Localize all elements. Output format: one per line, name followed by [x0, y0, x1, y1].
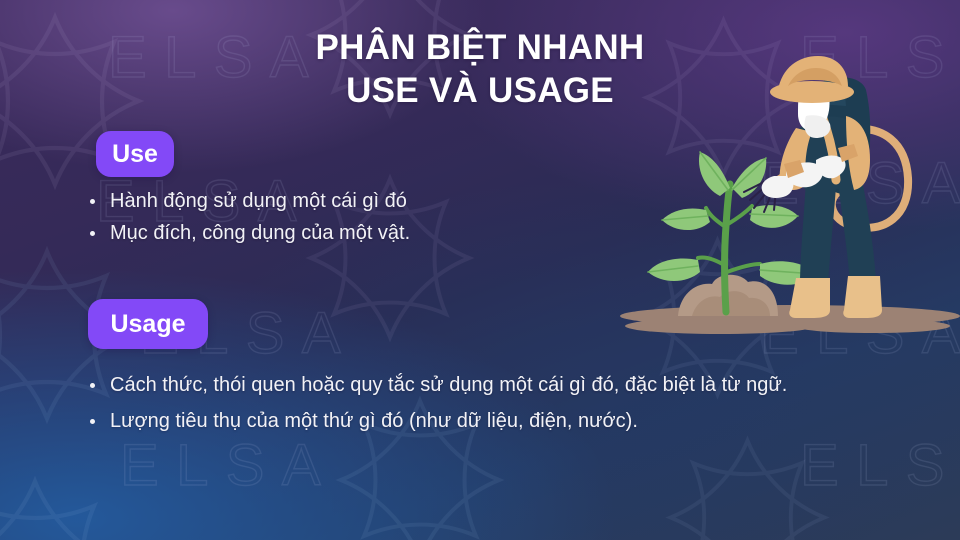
list-item: Cách thức, thói quen hoặc quy tắc sử dụn…	[84, 370, 884, 400]
slide-canvas: ELSA ELSA ELSA ELSA ELSA ELSA ELSA ELSA …	[0, 0, 960, 540]
page-title: PHÂN BIỆT NHANH USE VÀ USAGE	[0, 26, 960, 112]
list-item: Mục đích, công dụng của một vật.	[84, 218, 604, 248]
badge-usage: Usage	[88, 299, 208, 349]
star-watermark-icon	[660, 430, 835, 540]
badge-use: Use	[96, 131, 174, 177]
list-item: Hành động sử dụng một cái gì đó	[84, 186, 604, 216]
title-line-1: PHÂN BIỆT NHANH	[0, 26, 960, 69]
bullet-list-usage: Cách thức, thói quen hoặc quy tắc sử dụn…	[84, 370, 884, 442]
ground-shape	[620, 305, 960, 334]
star-watermark-icon	[0, 470, 130, 540]
elsa-watermark-text: ELSA	[800, 432, 960, 499]
title-line-2: USE VÀ USAGE	[0, 69, 960, 112]
bullet-list-use: Hành động sử dụng một cái gì đó Mục đích…	[84, 186, 604, 250]
list-item: Lượng tiêu thụ của một thứ gì đó (như dữ…	[84, 406, 884, 436]
elsa-watermark-text: ELSA	[120, 432, 338, 499]
